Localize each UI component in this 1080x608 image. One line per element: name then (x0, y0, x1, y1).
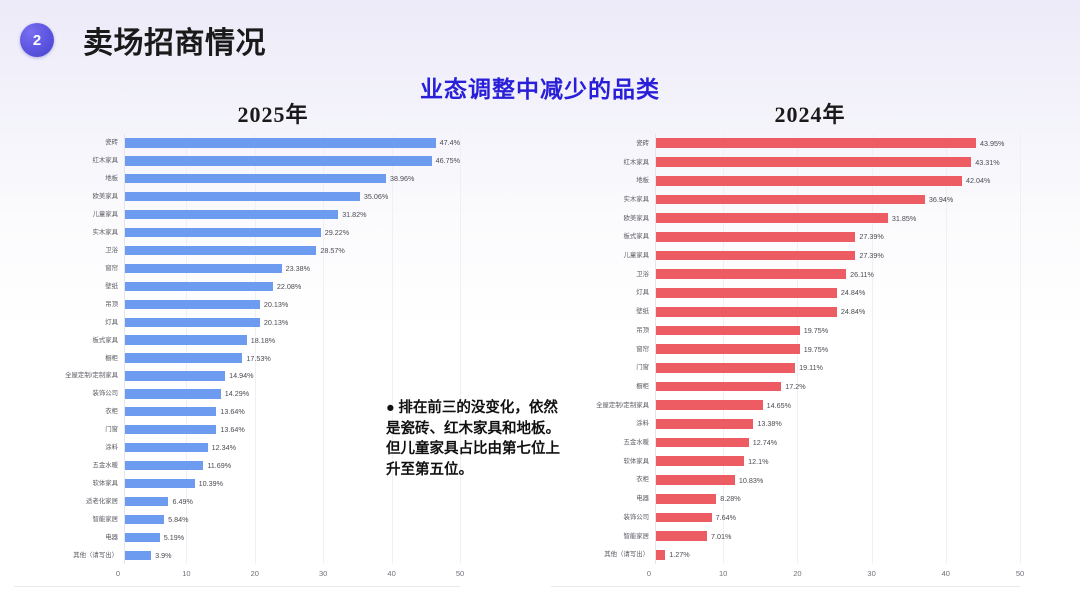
bar-track: 19.75% (655, 321, 1020, 340)
bar-value-label: 28.57% (320, 246, 344, 255)
bar (125, 156, 432, 165)
bar-value-label: 5.19% (164, 533, 184, 542)
bar-row: 门窗19.11% (551, 358, 1020, 377)
bar (656, 213, 888, 223)
x-axis-tick: 30 (319, 569, 327, 578)
bar (656, 157, 971, 167)
bar (125, 353, 242, 362)
x-axis-tick: 10 (719, 569, 727, 578)
bar-value-label: 20.13% (264, 318, 288, 327)
bar-category-label: 卫浴 (14, 247, 124, 254)
bar-track: 5.84% (124, 510, 460, 528)
bar-value-label: 24.84% (841, 307, 865, 316)
bar (125, 461, 203, 470)
chart-panel-2025: 2025年 瓷砖47.4%红木家具46.75%地板38.96%欧美家具35.06… (8, 100, 538, 592)
bar (656, 419, 753, 429)
bar-rows-2025: 瓷砖47.4%红木家具46.75%地板38.96%欧美家具35.06%儿童家具3… (14, 134, 460, 564)
bar (656, 176, 962, 186)
bar-category-label: 电器 (14, 534, 124, 541)
bar-row: 红木家具43.31% (551, 153, 1020, 172)
bar-category-label: 欧美家具 (14, 193, 124, 200)
bar (656, 550, 665, 560)
bar-category-label: 门窗 (551, 364, 655, 371)
bar-category-label: 儿童家具 (14, 211, 124, 218)
bar-category-label: 板式家具 (14, 337, 124, 344)
bar-value-label: 23.38% (286, 264, 310, 273)
bar (125, 282, 273, 291)
bar-category-label: 红木家具 (551, 159, 655, 166)
bar (656, 251, 855, 261)
bar-track: 6.49% (124, 492, 460, 510)
bar-row: 窗帘23.38% (14, 259, 460, 277)
bar-category-label: 灯具 (14, 319, 124, 326)
bar-row: 五金水暖12.74% (551, 433, 1020, 452)
bar-value-label: 43.31% (975, 158, 999, 167)
bar-track: 23.38% (124, 259, 460, 277)
bar (656, 195, 925, 205)
bar-row: 卫浴26.11% (551, 265, 1020, 284)
bar-row: 瓷砖47.4% (14, 134, 460, 152)
bar-track: 1.27% (655, 545, 1020, 564)
bar-track: 31.82% (124, 206, 460, 224)
bar-value-label: 46.75% (436, 156, 460, 165)
x-axis-tick: 0 (647, 569, 651, 578)
bar-category-label: 电器 (551, 495, 655, 502)
bar-track: 14.94% (124, 367, 460, 385)
annotation-text: ● 排在前三的没变化，依然是瓷砖、红木家具和地板。但儿童家具占比由第七位上升至第… (386, 398, 568, 480)
bar-row: 其他（请写出）1.27% (551, 545, 1020, 564)
bar-row: 涂料13.38% (551, 415, 1020, 434)
bar-track: 27.39% (655, 228, 1020, 247)
bar (125, 389, 221, 398)
bar-value-label: 22.08% (277, 282, 301, 291)
bar-category-label: 地板 (14, 175, 124, 182)
bar-track: 12.1% (655, 452, 1020, 471)
bar (656, 531, 707, 541)
x-axis-2024: 01020304050 (551, 564, 1020, 586)
bar-track: 43.31% (655, 153, 1020, 172)
bar-value-label: 5.84% (168, 515, 188, 524)
bar-row: 实木家具36.94% (551, 190, 1020, 209)
bar-category-label: 软体家具 (14, 480, 124, 487)
bar-value-label: 19.11% (799, 363, 823, 372)
bar-category-label: 橱柜 (551, 383, 655, 390)
bar (656, 269, 846, 279)
bar-row: 吊顶19.75% (551, 321, 1020, 340)
bar-value-label: 12.1% (748, 457, 768, 466)
bar (125, 228, 321, 237)
chart-main-title: 业态调整中减少的品类 (0, 70, 1080, 104)
bar-row: 软体家具12.1% (551, 452, 1020, 471)
bar-row: 电器5.19% (14, 528, 460, 546)
bar (125, 192, 360, 201)
bar-category-label: 窗帘 (551, 346, 655, 353)
bar (656, 344, 800, 354)
bar-category-label: 吊顶 (14, 301, 124, 308)
bar (656, 494, 716, 504)
bar (125, 246, 316, 255)
bar-row: 瓷砖43.95% (551, 134, 1020, 153)
bar (125, 318, 260, 327)
bar (125, 174, 386, 183)
bar-track: 10.83% (655, 471, 1020, 490)
bar-track: 12.74% (655, 433, 1020, 452)
bar-value-label: 31.85% (892, 214, 916, 223)
bar-category-label: 灯具 (551, 289, 655, 296)
bar-category-label: 红木家具 (14, 157, 124, 164)
bar-value-label: 31.82% (342, 210, 366, 219)
bar (656, 326, 800, 336)
bar-track: 43.95% (655, 134, 1020, 153)
page-title: 卖场招商情况 (83, 18, 266, 62)
bar-category-label: 卫浴 (551, 271, 655, 278)
bar-track: 29.22% (124, 224, 460, 242)
bar-track: 22.08% (124, 277, 460, 295)
bar-value-label: 3.9% (155, 551, 171, 560)
bar-value-label: 43.95% (980, 139, 1004, 148)
x-axis-tick: 20 (793, 569, 801, 578)
bar-row: 板式家具18.18% (14, 331, 460, 349)
bar-category-label: 实木家具 (551, 196, 655, 203)
bar (125, 551, 151, 560)
bar-track: 7.64% (655, 508, 1020, 527)
bar-category-label: 窗帘 (14, 265, 124, 272)
bar-row: 壁纸24.84% (551, 302, 1020, 321)
bar-track: 28.57% (124, 242, 460, 260)
bar-category-label: 橱柜 (14, 355, 124, 362)
bar-track: 3.9% (124, 546, 460, 564)
bar-track: 7.01% (655, 527, 1020, 546)
bar-track: 5.19% (124, 528, 460, 546)
bar-value-label: 7.64% (716, 513, 736, 522)
chart-year-title-2024: 2024年 (545, 100, 1075, 130)
chart-panel-2024: 2024年 瓷砖43.95%红木家具43.31%地板42.04%实木家具36.9… (545, 100, 1075, 592)
bar-value-label: 14.65% (767, 401, 791, 410)
bar (125, 407, 216, 416)
bar-value-label: 47.4% (440, 138, 460, 147)
bar-value-label: 13.64% (220, 425, 244, 434)
bar-value-label: 12.74% (753, 438, 777, 447)
bar-category-label: 儿童家具 (551, 252, 655, 259)
bar-track: 17.2% (655, 377, 1020, 396)
bar-value-label: 6.49% (172, 497, 192, 506)
bar (656, 513, 712, 523)
bar-category-label: 装饰公司 (14, 390, 124, 397)
bar-category-label: 其他（请写出） (551, 551, 655, 558)
bar-value-label: 42.04% (966, 176, 990, 185)
bar-value-label: 29.22% (325, 228, 349, 237)
bar-value-label: 36.94% (929, 195, 953, 204)
bar-track: 31.85% (655, 209, 1020, 228)
bar-category-label: 涂料 (14, 444, 124, 451)
bar-track: 20.13% (124, 295, 460, 313)
bar-value-label: 13.38% (757, 419, 781, 428)
bar-row: 适老化家居6.49% (14, 492, 460, 510)
bar-row: 地板42.04% (551, 171, 1020, 190)
bar (656, 232, 855, 242)
bar-track: 24.84% (655, 302, 1020, 321)
bar-value-label: 27.39% (859, 232, 883, 241)
bar (656, 382, 781, 392)
bar (125, 138, 436, 147)
bar-row: 欧美家具35.06% (14, 188, 460, 206)
x-axis-tick: 30 (867, 569, 875, 578)
bar-track: 8.28% (655, 489, 1020, 508)
bar-track: 26.11% (655, 265, 1020, 284)
bar-value-label: 14.94% (229, 371, 253, 380)
bar-category-label: 适老化家居 (14, 498, 124, 505)
bar-track: 19.11% (655, 358, 1020, 377)
bar-category-label: 门窗 (14, 426, 124, 433)
bar-value-label: 17.2% (785, 382, 805, 391)
bar-track: 13.38% (655, 415, 1020, 434)
slide-header: 2 卖场招商情况 (0, 0, 1080, 70)
bar-category-label: 地板 (551, 177, 655, 184)
gridline (1020, 134, 1021, 564)
bar-track: 42.04% (655, 171, 1020, 190)
bar-track: 38.96% (124, 170, 460, 188)
bar-track: 20.13% (124, 313, 460, 331)
bar-category-label: 板式家具 (551, 233, 655, 240)
bar-row: 衣柜10.83% (551, 471, 1020, 490)
bar-track: 17.53% (124, 349, 460, 367)
x-axis-tick: 40 (942, 569, 950, 578)
x-axis-tick: 10 (182, 569, 190, 578)
bar (656, 456, 744, 466)
x-axis-tick: 20 (251, 569, 259, 578)
bar-value-label: 7.01% (711, 532, 731, 541)
bar-value-label: 35.06% (364, 192, 388, 201)
bar-value-label: 20.13% (264, 300, 288, 309)
bar-value-label: 1.27% (669, 550, 689, 559)
bar-row: 吊顶20.13% (14, 295, 460, 313)
bar-category-label: 装饰公司 (551, 514, 655, 521)
bar-row: 红木家具46.75% (14, 152, 460, 170)
x-axis-tick: 0 (116, 569, 120, 578)
bar-category-label: 其他（请写出） (14, 552, 124, 559)
bar-row: 智能家居5.84% (14, 510, 460, 528)
bar (656, 363, 795, 373)
bar-value-label: 19.75% (804, 326, 828, 335)
bar-row: 装饰公司7.64% (551, 508, 1020, 527)
bar-category-label: 全屋定制/定制家具 (14, 372, 124, 379)
bar-value-label: 24.84% (841, 288, 865, 297)
bar-row: 智能家居7.01% (551, 527, 1020, 546)
bar (125, 300, 260, 309)
bar (656, 288, 837, 298)
bar-row: 灯具24.84% (551, 284, 1020, 303)
bar-category-label: 五金水暖 (14, 462, 124, 469)
bar (125, 425, 216, 434)
bar-value-label: 19.75% (804, 345, 828, 354)
bar-category-label: 瓷砖 (551, 140, 655, 147)
bar (125, 210, 338, 219)
bar-row: 电器8.28% (551, 489, 1020, 508)
bar-row: 板式家具27.39% (551, 228, 1020, 247)
bar-track: 35.06% (124, 188, 460, 206)
bar (656, 475, 735, 485)
bar (656, 438, 749, 448)
bar-track: 24.84% (655, 284, 1020, 303)
bar-track: 19.75% (655, 340, 1020, 359)
bar-category-label: 瓷砖 (14, 139, 124, 146)
bar-row: 欧美家具31.85% (551, 209, 1020, 228)
bar-row: 窗帘19.75% (551, 340, 1020, 359)
bar-row: 壁纸22.08% (14, 277, 460, 295)
bar-row: 儿童家具27.39% (551, 246, 1020, 265)
bar-category-label: 智能家居 (14, 516, 124, 523)
section-number-badge: 2 (20, 23, 54, 57)
bar-value-label: 10.83% (739, 476, 763, 485)
bar (125, 533, 160, 542)
x-axis-tick: 40 (387, 569, 395, 578)
bar (125, 264, 282, 273)
bar-value-label: 8.28% (720, 494, 740, 503)
bar-chart-2025: 瓷砖47.4%红木家具46.75%地板38.96%欧美家具35.06%儿童家具3… (14, 134, 460, 587)
bar-row: 橱柜17.53% (14, 349, 460, 367)
chart-year-title-2025: 2025年 (8, 100, 538, 130)
bar-row: 卫浴28.57% (14, 242, 460, 260)
x-axis-tick: 50 (456, 569, 464, 578)
bar-track: 18.18% (124, 331, 460, 349)
bar-category-label: 实木家具 (14, 229, 124, 236)
bar-value-label: 11.69% (207, 461, 231, 470)
bar (656, 138, 976, 148)
x-axis-2025: 01020304050 (14, 564, 460, 586)
bar-track: 36.94% (655, 190, 1020, 209)
bar-row: 全屋定制/定制家具14.94% (14, 367, 460, 385)
bar (656, 307, 837, 317)
bar-chart-2024: 瓷砖43.95%红木家具43.31%地板42.04%实木家具36.94%欧美家具… (551, 134, 1020, 587)
gridline (460, 134, 461, 564)
bar-value-label: 17.53% (246, 354, 270, 363)
bar-value-label: 26.11% (850, 270, 874, 279)
bar-category-label: 吊顶 (551, 327, 655, 334)
bar-value-label: 27.39% (859, 251, 883, 260)
bar-track: 46.75% (124, 152, 460, 170)
bar-row: 实木家具29.22% (14, 224, 460, 242)
bar (125, 371, 225, 380)
bar-value-label: 12.34% (212, 443, 236, 452)
bar-category-label: 衣柜 (14, 408, 124, 415)
bar-value-label: 38.96% (390, 174, 414, 183)
bar-row: 地板38.96% (14, 170, 460, 188)
bar (656, 400, 763, 410)
bar-category-label: 智能家居 (551, 533, 655, 540)
bar (125, 443, 208, 452)
bar (125, 497, 168, 506)
bar-track: 27.39% (655, 246, 1020, 265)
bar-row: 儿童家具31.82% (14, 206, 460, 224)
bar-rows-2024: 瓷砖43.95%红木家具43.31%地板42.04%实木家具36.94%欧美家具… (551, 134, 1020, 564)
bar-category-label: 欧美家具 (551, 215, 655, 222)
bar (125, 515, 164, 524)
bar-value-label: 14.29% (225, 389, 249, 398)
bar-row: 灯具20.13% (14, 313, 460, 331)
bar-value-label: 10.39% (199, 479, 223, 488)
bar (125, 335, 247, 344)
bar-category-label: 壁纸 (14, 283, 124, 290)
bar-track: 47.4% (124, 134, 460, 152)
bar-value-label: 13.64% (220, 407, 244, 416)
bar-row: 全屋定制/定制家具14.65% (551, 396, 1020, 415)
bar-category-label: 壁纸 (551, 308, 655, 315)
slide-canvas: 2 卖场招商情况 业态调整中减少的品类 2025年 瓷砖47.4%红木家具46.… (0, 0, 1080, 608)
bar-value-label: 18.18% (251, 336, 275, 345)
bar-track: 14.65% (655, 396, 1020, 415)
bar-row: 其他（请写出）3.9% (14, 546, 460, 564)
x-axis-tick: 50 (1016, 569, 1024, 578)
bar (125, 479, 195, 488)
bar-row: 橱柜17.2% (551, 377, 1020, 396)
